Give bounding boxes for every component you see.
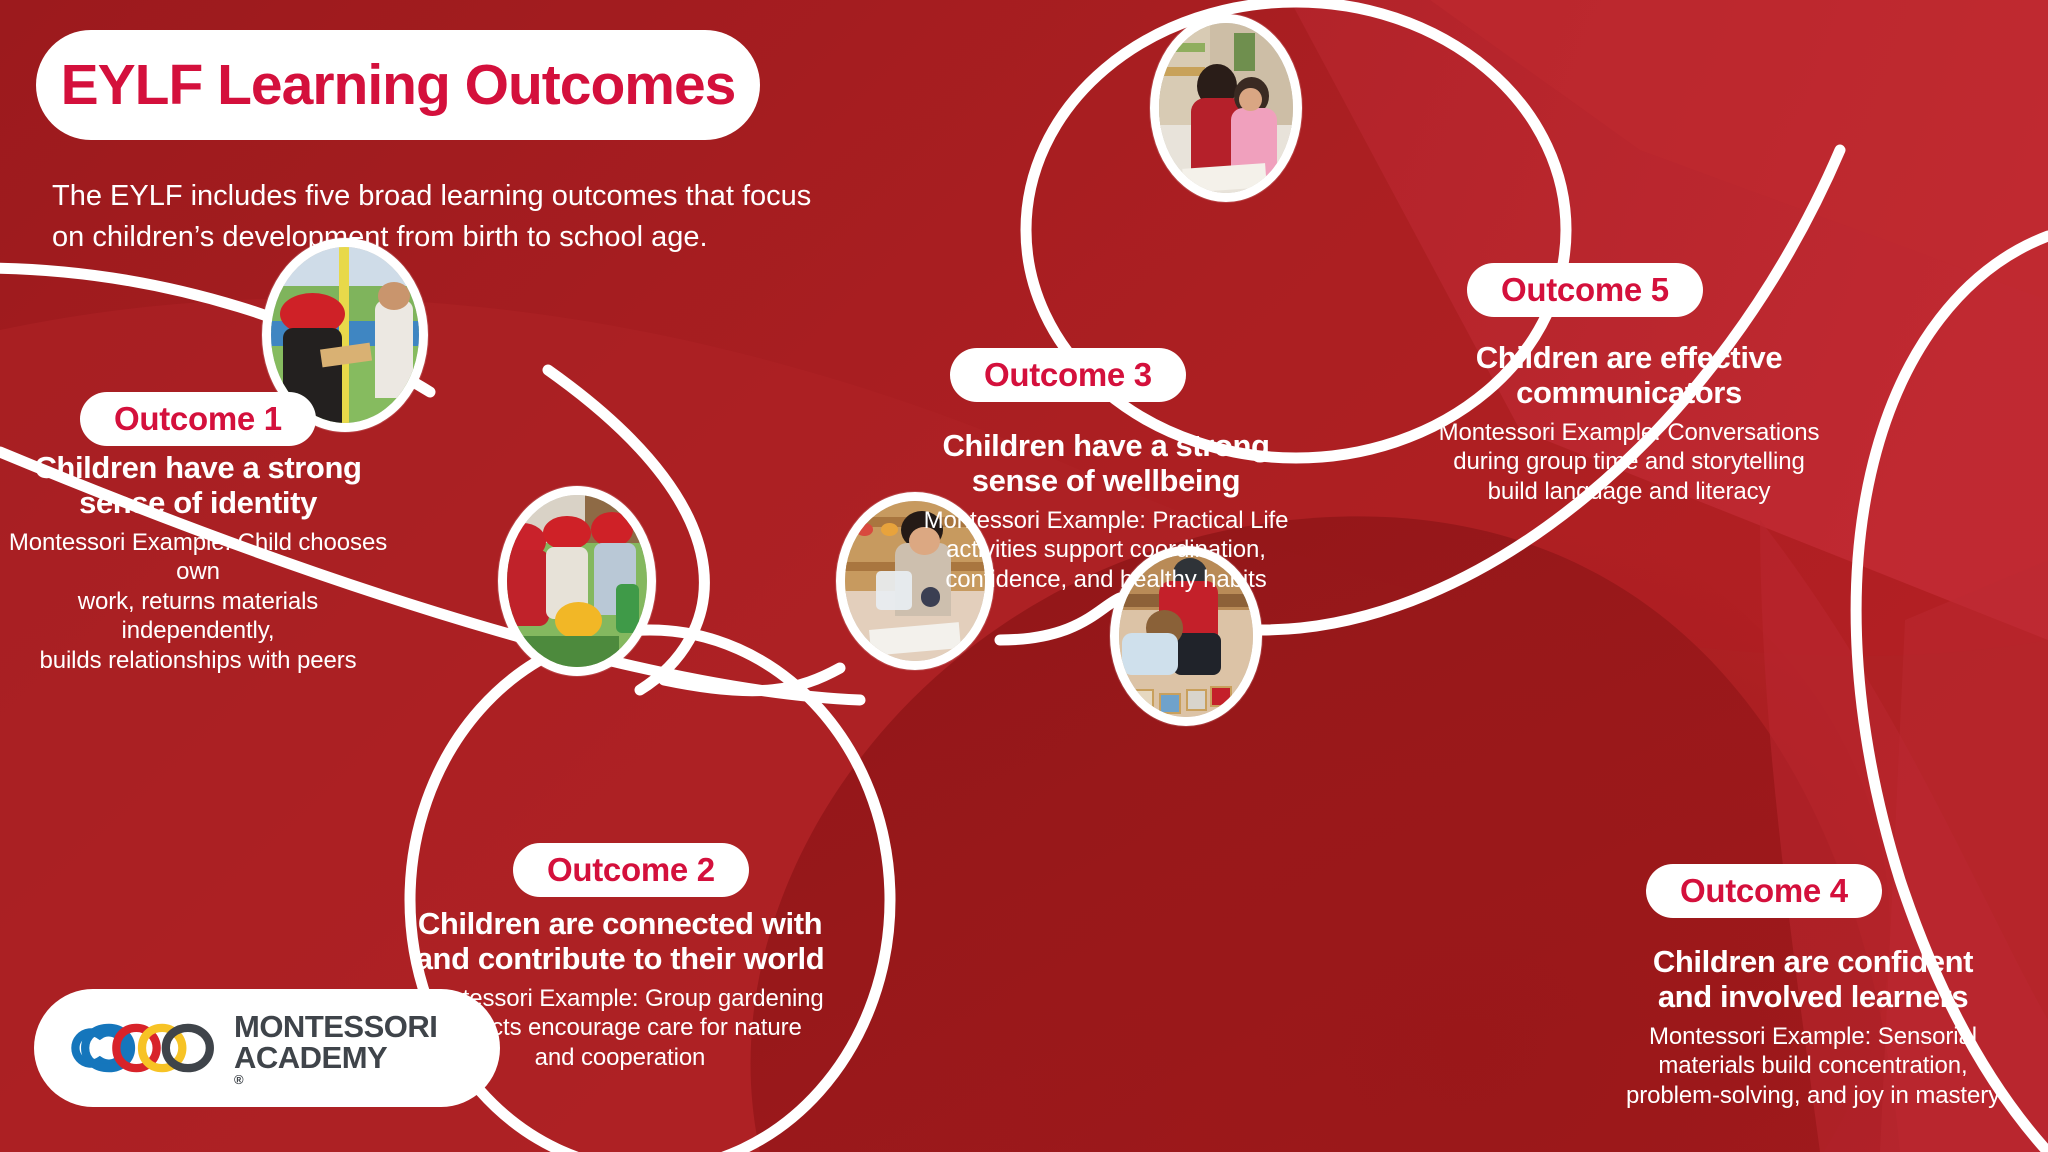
- outcome-1-example-line-1: Montessori Example: Child chooses own: [0, 528, 396, 587]
- outcome-4-headline-line-2: and involved learners: [1590, 979, 2036, 1014]
- outcome-4-example-line-2: materials build concentration,: [1590, 1051, 2036, 1081]
- outcome-3-headline-line-2: sense of wellbeing: [890, 463, 1322, 498]
- infographic-canvas: EYLF Learning Outcomes The EYLF includes…: [0, 0, 2048, 1152]
- outcome-5-headline: Children are effective communicators: [1400, 340, 1858, 411]
- outcome-5-headline-line-1: Children are effective: [1400, 340, 1858, 375]
- outcome-3-block: Children have a strong sense of wellbein…: [890, 428, 1322, 594]
- outcome-4-badge[interactable]: Outcome 4: [1646, 864, 1882, 918]
- outcome-1-badge[interactable]: Outcome 1: [80, 392, 316, 446]
- outcome-5-block: Children are effective communicators Mon…: [1400, 340, 1858, 506]
- outcome-3-example-line-3: confidence, and healthy habits: [890, 565, 1322, 595]
- outcome-5-example: Montessori Example: Conversations during…: [1400, 418, 1858, 507]
- outcome-2-headline-line-2: and contribute to their world: [400, 941, 840, 976]
- outcome-2-badge[interactable]: Outcome 2: [513, 843, 749, 897]
- outcome-4-example: Montessori Example: Sensorial materials …: [1590, 1022, 2036, 1111]
- chain-links-icon: [68, 1015, 216, 1081]
- outcome-4-headline-line-1: Children are confident: [1590, 944, 2036, 979]
- logo-line-2-text: ACADEMY: [234, 1042, 437, 1073]
- outcome-1-block: Children have a strong sense of identity…: [0, 450, 396, 675]
- outcome-4-example-line-1: Montessori Example: Sensorial: [1590, 1022, 2036, 1052]
- page-title: EYLF Learning Outcomes: [36, 30, 760, 140]
- photo-bubble-outcome-5: [1150, 14, 1302, 202]
- outcome-1-headline-line-2: sense of identity: [0, 485, 396, 520]
- outcome-4-example-line-3: problem-solving, and joy in mastery: [1590, 1081, 2036, 1111]
- outcome-4-block: Children are confident and involved lear…: [1590, 944, 2036, 1110]
- outcome-1-example-line-3: builds relationships with peers: [0, 646, 396, 676]
- outcome-4-headline: Children are confident and involved lear…: [1590, 944, 2036, 1015]
- logo-wordmark: MONTESSORI ACADEMY®: [234, 1011, 437, 1086]
- outcome-5-badge[interactable]: Outcome 5: [1467, 263, 1703, 317]
- photo-bubble-outcome-2: [498, 486, 656, 676]
- outcome-1-headline-line-1: Children have a strong: [0, 450, 396, 485]
- outcome-3-headline-line-1: Children have a strong: [890, 428, 1322, 463]
- outcome-2-headline-line-1: Children are connected with: [400, 906, 840, 941]
- outcome-5-example-line-3: build language and literacy: [1400, 477, 1858, 507]
- outcome-2-headline: Children are connected with and contribu…: [400, 906, 840, 977]
- outcome-3-example-line-2: activities support coordination,: [890, 535, 1322, 565]
- intro-line-2: on children’s development from birth to …: [52, 217, 872, 258]
- outcome-3-badge[interactable]: Outcome 3: [950, 348, 1186, 402]
- montessori-academy-logo[interactable]: MONTESSORI ACADEMY®: [34, 989, 500, 1107]
- logo-line-2: ACADEMY®: [234, 1042, 437, 1086]
- outcome-3-example: Montessori Example: Practical Life activ…: [890, 506, 1322, 595]
- outcome-5-example-line-1: Montessori Example: Conversations: [1400, 418, 1858, 448]
- outcome-1-headline: Children have a strong sense of identity: [0, 450, 396, 521]
- outcome-5-example-line-2: during group time and storytelling: [1400, 447, 1858, 477]
- outcome-3-example-line-1: Montessori Example: Practical Life: [890, 506, 1322, 536]
- intro-paragraph: The EYLF includes five broad learning ou…: [52, 176, 872, 258]
- outcome-1-example: Montessori Example: Child chooses own wo…: [0, 528, 396, 676]
- logo-line-1: MONTESSORI: [234, 1011, 437, 1042]
- outcome-3-headline: Children have a strong sense of wellbein…: [890, 428, 1322, 499]
- outcome-5-headline-line-2: communicators: [1400, 375, 1858, 410]
- intro-line-1: The EYLF includes five broad learning ou…: [52, 176, 872, 217]
- outcome-1-example-line-2: work, returns materials independently,: [0, 587, 396, 646]
